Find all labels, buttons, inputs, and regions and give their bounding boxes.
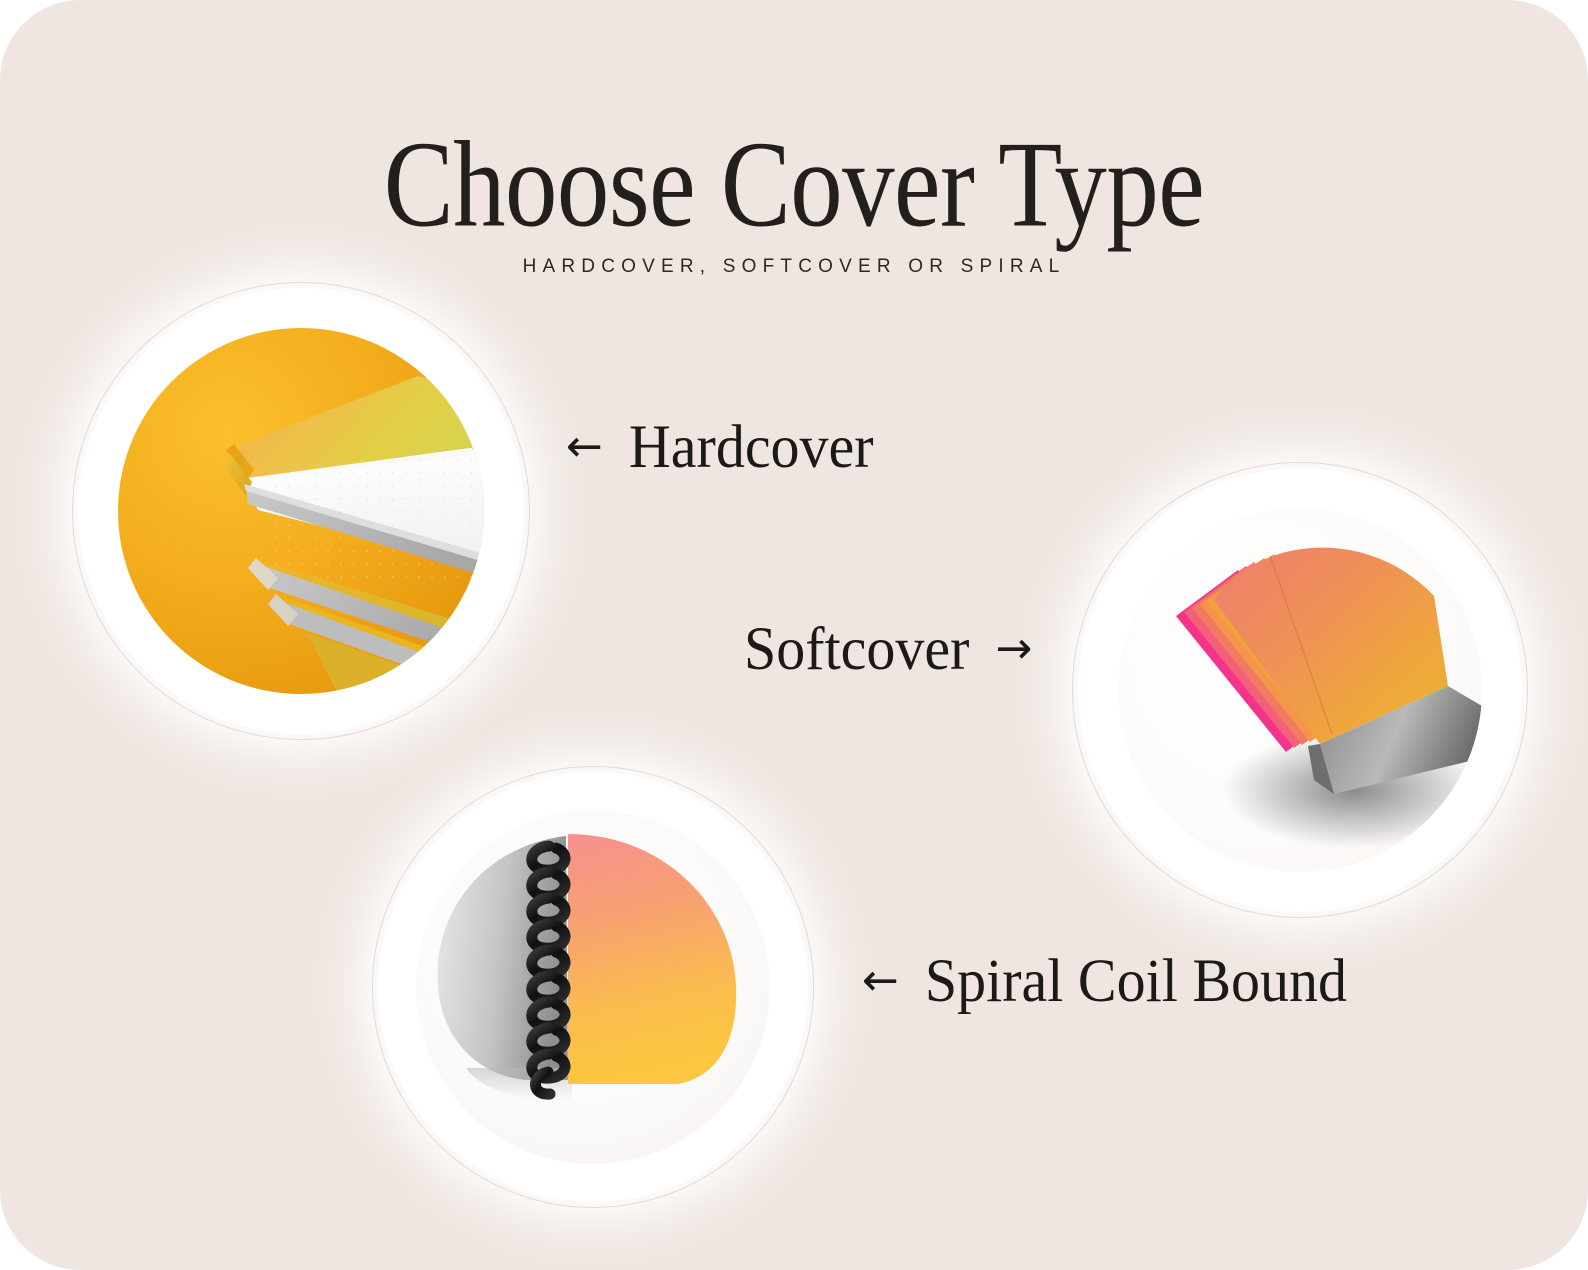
label-softcover[interactable]: Softcover → xyxy=(744,620,1032,678)
arrow-left-icon: ← xyxy=(862,959,899,1003)
option-spiral-circle[interactable] xyxy=(378,772,808,1202)
spiral-illustration xyxy=(416,810,770,1164)
arrow-left-icon: ← xyxy=(566,425,603,469)
label-hardcover-text: Hardcover xyxy=(629,416,874,477)
label-softcover-text: Softcover xyxy=(744,618,970,679)
softcover-image xyxy=(1118,508,1482,872)
hardcover-illustration xyxy=(118,328,484,694)
option-hardcover-circle[interactable] xyxy=(78,288,524,734)
softcover-illustration xyxy=(1118,508,1482,872)
spiral-image xyxy=(416,810,770,1164)
label-spiral-text: Spiral Coil Bound xyxy=(925,950,1347,1011)
option-softcover-circle[interactable] xyxy=(1078,468,1522,912)
label-hardcover[interactable]: ← Hardcover xyxy=(566,418,874,476)
cover-type-page: Choose Cover Type HARDCOVER, SOFTCOVER O… xyxy=(0,0,1588,1270)
hardcover-image xyxy=(118,328,484,694)
page-header: Choose Cover Type HARDCOVER, SOFTCOVER O… xyxy=(0,0,1588,278)
label-spiral[interactable]: ← Spiral Coil Bound xyxy=(862,952,1347,1010)
page-title: Choose Cover Type xyxy=(24,0,1564,249)
arrow-right-icon: → xyxy=(996,627,1033,671)
